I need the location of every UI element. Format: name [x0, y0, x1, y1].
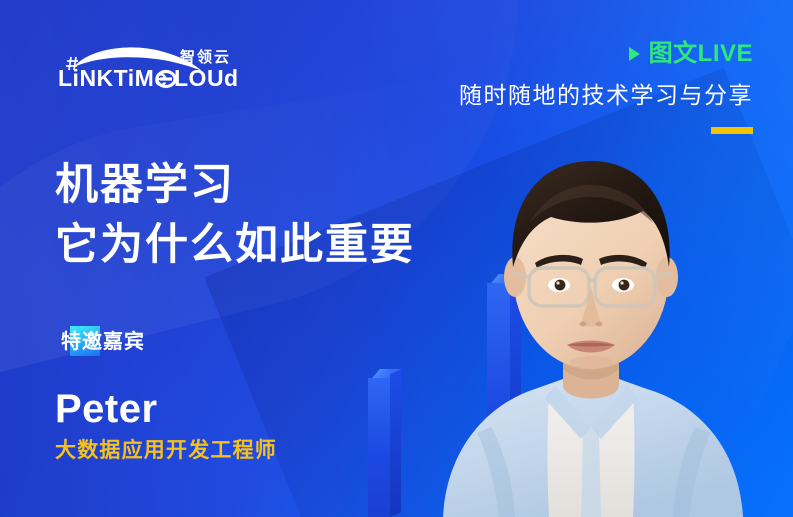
- live-label-row: 图文LIVE: [459, 42, 753, 66]
- title-line-1: 机器学习: [55, 157, 415, 215]
- accent-dash: [711, 127, 753, 134]
- live-banner-block: 图文LIVE 随时随地的技术学习与分享: [459, 42, 753, 134]
- guest-name: Peter: [55, 389, 277, 429]
- pillar-face: [368, 378, 390, 517]
- speaker-portrait: [395, 127, 787, 517]
- brand-logo[interactable]: LINKTIMECLOUD LiNKTiMe LOUd 智领云: [52, 40, 252, 92]
- live-subtitle: 随时随地的技术学习与分享: [459, 84, 753, 107]
- logo-chinese-name: 智领云: [180, 48, 231, 66]
- webinar-promo-banner: LINKTIMECLOUD LiNKTiMe LOUd 智领云: [0, 0, 793, 517]
- guest-role: 大数据应用开发工程师: [55, 440, 277, 461]
- guest-info-block: 特邀嘉宾 Peter 大数据应用开发工程师: [55, 326, 277, 461]
- live-label: 图文LIVE: [649, 42, 753, 66]
- decorative-pillar-short: [368, 378, 390, 517]
- logo-wordmark: LiNKTiMe: [58, 65, 168, 91]
- guest-tag: 特邀嘉宾: [55, 326, 147, 356]
- title-line-2: 它为什么如此重要: [55, 217, 415, 275]
- page-title: 机器学习 它为什么如此重要: [55, 157, 415, 274]
- logo-wordmark-tail: LOUd: [174, 65, 239, 91]
- play-triangle-icon: [629, 47, 640, 61]
- guest-tag-label: 特邀嘉宾: [61, 331, 145, 353]
